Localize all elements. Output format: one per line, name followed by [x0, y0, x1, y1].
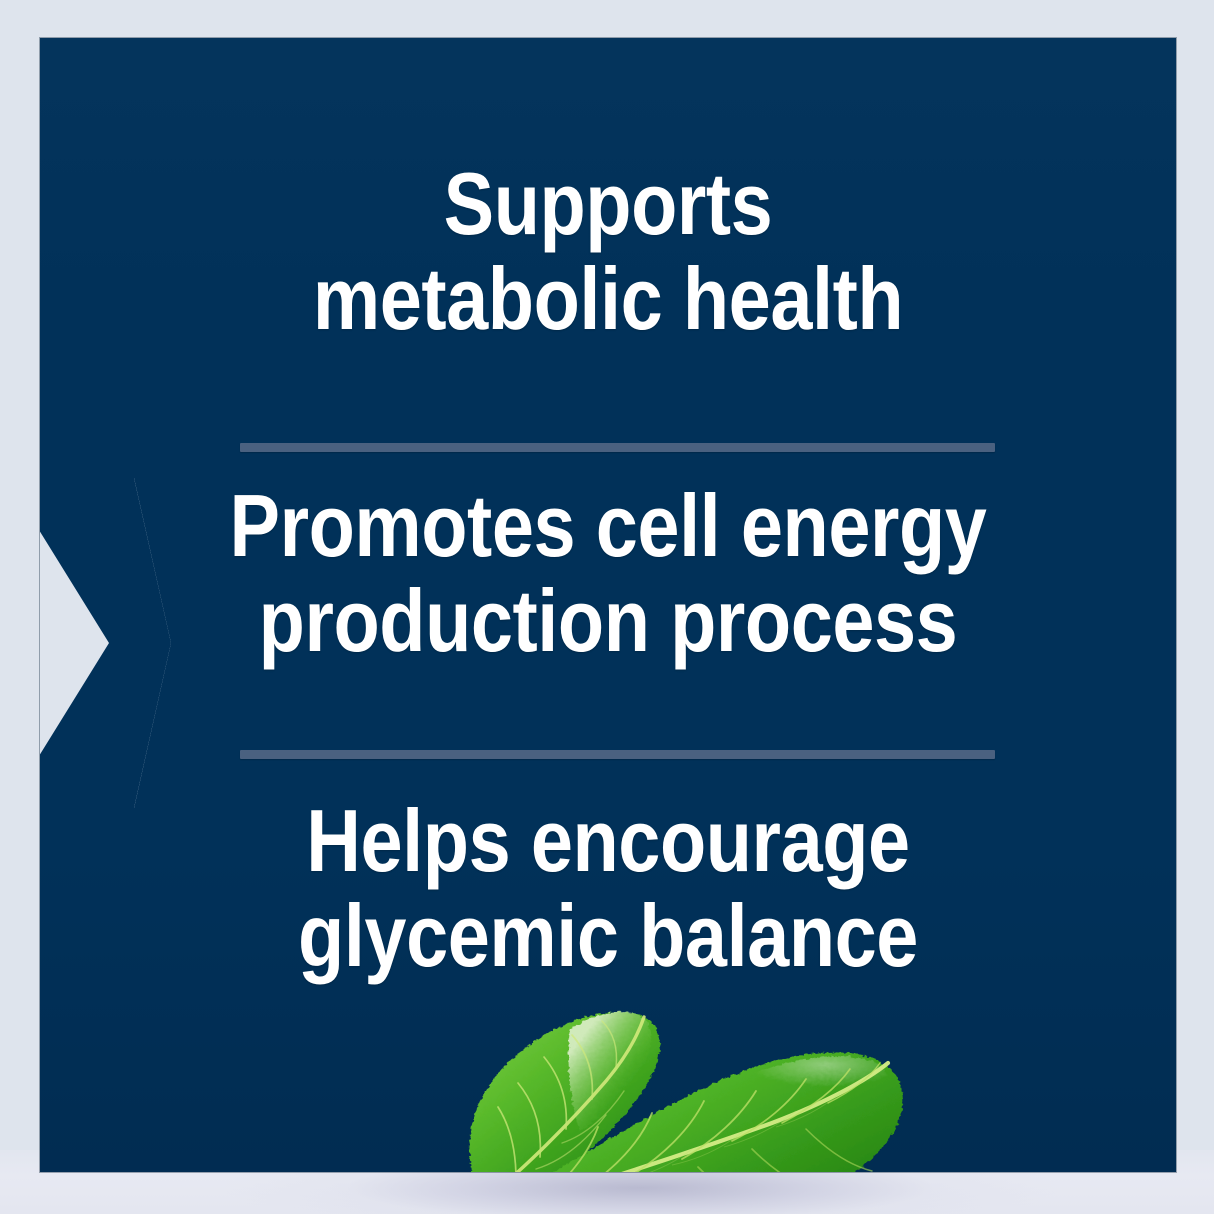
claim-divider-2 — [240, 750, 995, 759]
claim-helps-glycemic-balance: Helps encourage glycemic balance — [120, 793, 1097, 983]
product-claim-graphic: Supports metabolic health Promotes cell … — [0, 0, 1214, 1214]
navy-claim-panel: Supports metabolic health Promotes cell … — [40, 38, 1176, 1172]
claim-supports-metabolic-health: Supports metabolic health — [120, 156, 1097, 346]
green-leaves-icon — [420, 983, 940, 1172]
claim-divider-1 — [240, 443, 995, 452]
claim-promotes-cell-energy: Promotes cell energy production process — [120, 478, 1097, 668]
